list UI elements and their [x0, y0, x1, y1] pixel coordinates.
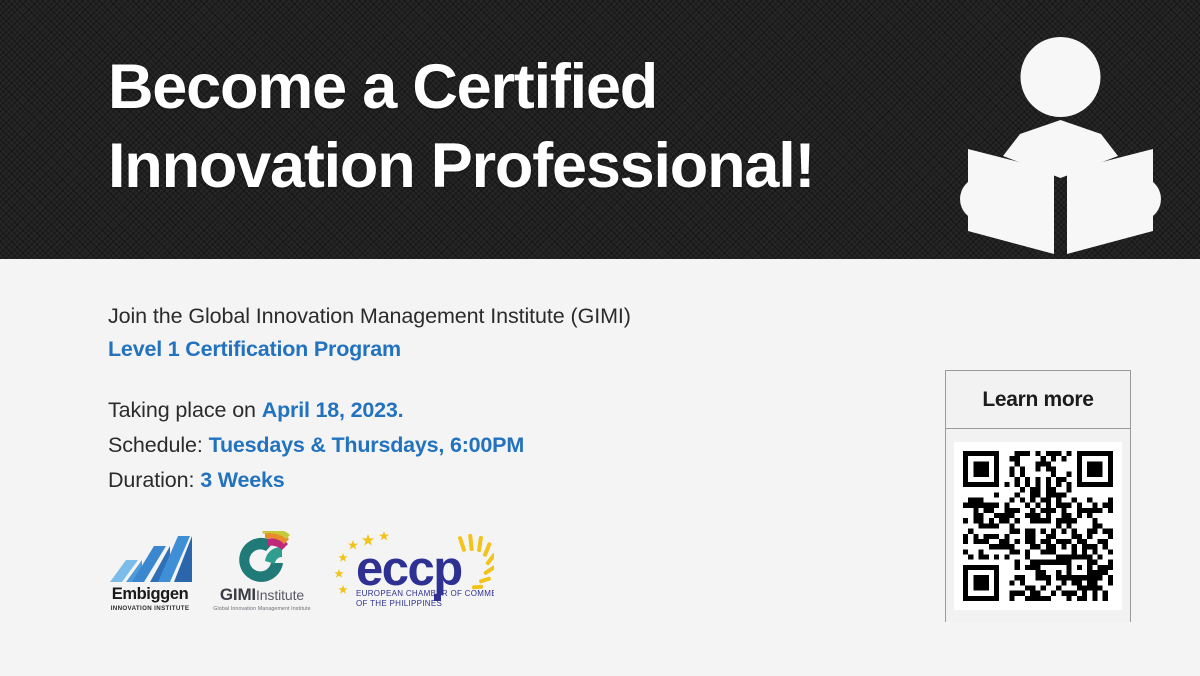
detail-value-schedule: Tuesdays & Thursdays, 6:00PM — [209, 433, 524, 457]
logo-eccp: eccp EUROPEAN CHAMBER OF COMMERCE OF THE… — [330, 528, 494, 612]
page-title: Become a Certified Innovation Profession… — [108, 48, 908, 207]
detail-row-schedule: Schedule: Tuesdays & Thursdays, 6:00PM — [108, 428, 868, 463]
qr-code-quiet-zone — [954, 442, 1122, 610]
learn-more-header: Learn more — [946, 371, 1130, 429]
embiggen-mark-icon — [106, 532, 194, 584]
gimi-wordmark-bold: GIMI — [220, 585, 256, 604]
schedule-list: Taking place on April 18, 2023. Schedule… — [108, 393, 868, 497]
detail-label-schedule: Schedule: — [108, 433, 209, 457]
svg-text:eccp: eccp — [356, 542, 462, 596]
program-name: Level 1 Certification Program — [108, 333, 868, 366]
embiggen-tagline: INNOVATION INSTITUTE — [106, 606, 194, 612]
event-details-block: Join the Global Innovation Management In… — [108, 300, 868, 498]
detail-label-duration: Duration: — [108, 468, 200, 492]
detail-row-duration: Duration: 3 Weeks — [108, 463, 868, 498]
qr-code-icon[interactable] — [963, 451, 1113, 601]
qr-code-container[interactable] — [946, 429, 1130, 622]
gimi-wordmark-light: Institute — [256, 587, 304, 603]
gimi-tagline: Global Innovation Management Institute — [212, 607, 312, 612]
intro-text: Join the Global Innovation Management In… — [108, 300, 868, 365]
intro-line: Join the Global Innovation Management In… — [108, 304, 631, 328]
gimi-wordmark: GIMIInstitute — [212, 586, 312, 604]
eccp-subtitle-line2: OF THE PHILIPPINES — [356, 599, 442, 608]
detail-value-date: April 18, 2023. — [262, 398, 404, 422]
detail-row-date: Taking place on April 18, 2023. — [108, 393, 868, 428]
gimi-mark-icon — [234, 531, 290, 583]
detail-label-date: Taking place on — [108, 398, 262, 422]
eccp-mark-icon: eccp EUROPEAN CHAMBER OF COMMERCE OF THE… — [330, 528, 494, 612]
learn-more-label: Learn more — [982, 388, 1093, 412]
learn-more-card[interactable]: Learn more — [945, 370, 1131, 622]
header-banner: Become a Certified Innovation Profession… — [0, 0, 1200, 259]
logo-gimi: GIMIInstitute Global Innovation Manageme… — [212, 531, 312, 612]
detail-value-duration: 3 Weeks — [200, 468, 284, 492]
partner-logos: Embiggen INNOVATION INSTITUTE GIMIInstit… — [106, 528, 494, 612]
embiggen-wordmark: Embiggen — [106, 586, 194, 603]
person-reading-book-icon — [958, 32, 1163, 254]
eccp-subtitle-line1: EUROPEAN CHAMBER OF COMMERCE — [356, 589, 494, 598]
logo-embiggen: Embiggen INNOVATION INSTITUTE — [106, 532, 194, 612]
